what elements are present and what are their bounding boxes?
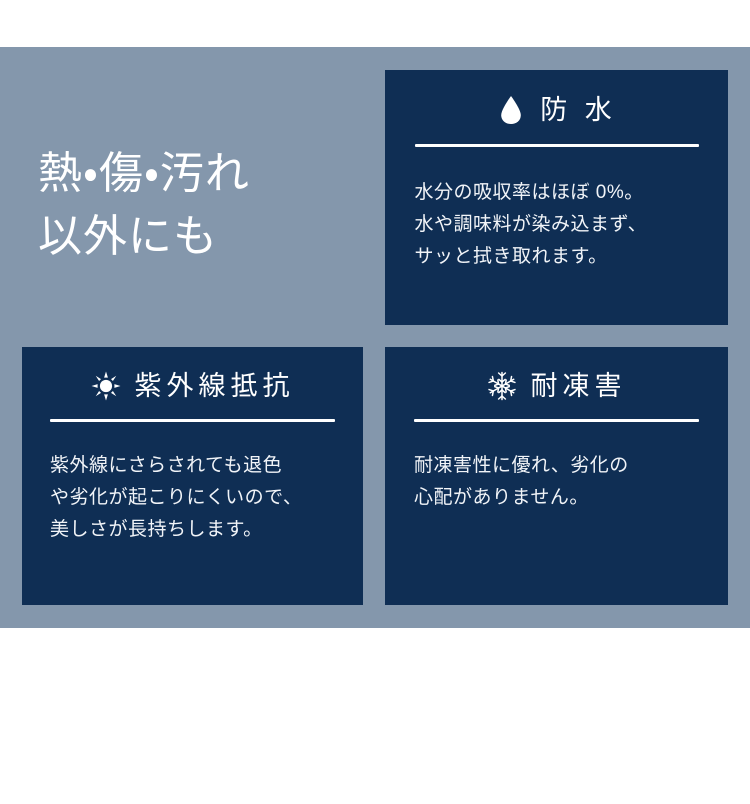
- water-drop-icon: [496, 95, 526, 125]
- page-title: 熱・傷・汚れ 以外にも: [38, 142, 368, 268]
- feature-card-uv-resistance: 紫外線抵抗 紫外線にさらされても退色 や劣化が起こりにくいので、 美しさが長持ち…: [22, 347, 363, 605]
- card-body: 耐凍害性に優れ、劣化の 心配がありません。: [414, 422, 699, 514]
- card-header: 防 水: [385, 70, 728, 144]
- card-body: 紫外線にさらされても退色 や劣化が起こりにくいので、 美しさが長持ちします。: [50, 422, 335, 546]
- card-body-line: 紫外線にさらされても退色: [50, 450, 335, 482]
- feature-panel: 熱・傷・汚れ 以外にも 防 水 水分の吸収率はほぼ 0%。 水や調味料が染み込ま…: [0, 0, 750, 804]
- snowflake-icon: [487, 371, 517, 401]
- card-header: 紫外線抵抗: [22, 347, 363, 419]
- card-body-line: 美しさが長持ちします。: [50, 514, 335, 546]
- card-title: 耐凍害: [531, 373, 627, 400]
- card-title: 紫外線抵抗: [135, 373, 295, 400]
- card-header: 耐凍害: [385, 347, 728, 419]
- card-body-line: 水分の吸収率はほぼ 0%。: [415, 177, 699, 209]
- card-body-line: 心配がありません。: [414, 482, 699, 514]
- card-body-line: や劣化が起こりにくいので、: [50, 482, 335, 514]
- hero-line-1: 熱・傷・汚れ: [38, 142, 368, 205]
- sun-icon: [91, 371, 121, 401]
- hero-line-2: 以外にも: [38, 205, 368, 268]
- card-title: 防 水: [540, 97, 617, 124]
- card-body: 水分の吸収率はほぼ 0%。 水や調味料が染み込まず、 サッと拭き取れます。: [415, 147, 699, 273]
- feature-card-frost-resistance: 耐凍害 耐凍害性に優れ、劣化の 心配がありません。: [385, 347, 728, 605]
- feature-card-waterproof: 防 水 水分の吸収率はほぼ 0%。 水や調味料が染み込まず、 サッと拭き取れます…: [385, 70, 728, 325]
- card-body-line: サッと拭き取れます。: [415, 241, 699, 273]
- card-body-line: 水や調味料が染み込まず、: [415, 209, 699, 241]
- card-body-line: 耐凍害性に優れ、劣化の: [414, 450, 699, 482]
